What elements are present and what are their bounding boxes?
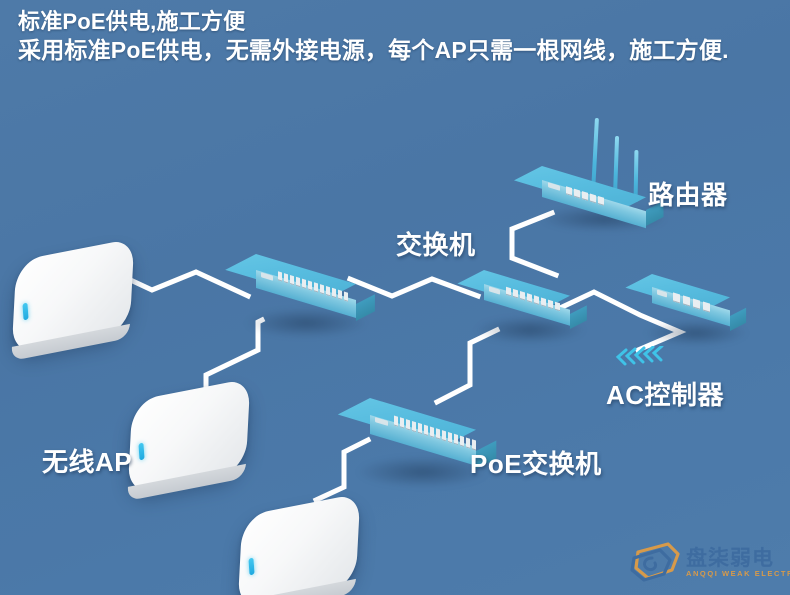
watermark-english: ANQQI WEAK ELECTRICITY	[686, 569, 790, 578]
switch-port	[344, 291, 348, 301]
switch-port	[326, 286, 330, 296]
label-ac-controller: AC控制器	[606, 375, 724, 412]
switch-port	[527, 293, 532, 303]
poe-port	[394, 415, 398, 426]
router-port	[590, 194, 596, 204]
switch-port	[513, 289, 518, 299]
device-ac-controller[interactable]	[640, 272, 750, 348]
device-ap-top[interactable]	[14, 250, 132, 342]
label-router: 路由器	[648, 175, 728, 212]
watermark-chinese: 盘柒弱电	[686, 542, 774, 572]
switch-port	[332, 288, 336, 298]
ap-middle-led-icon	[138, 442, 144, 460]
ap-middle-body	[128, 378, 251, 494]
switch-port	[296, 277, 300, 287]
label-switch: 交换机	[396, 225, 476, 262]
ac-port	[693, 298, 700, 309]
poe-port	[424, 425, 428, 436]
watermark-mark-icon	[628, 540, 684, 584]
device-switch-core[interactable]	[470, 268, 590, 344]
ap-bottom-led-icon	[248, 557, 254, 575]
switch-port	[506, 287, 511, 297]
ac-wireless-signal-icon	[612, 346, 670, 372]
switch-port	[284, 273, 288, 283]
cable-switchleft-to-ap-top	[122, 272, 248, 296]
switch-port	[290, 275, 294, 285]
ap-top-body	[12, 238, 135, 354]
poe-port	[412, 421, 416, 432]
router-port	[582, 191, 588, 201]
router-port	[574, 189, 580, 199]
switch-port	[548, 300, 553, 310]
switch-port	[555, 302, 560, 312]
switch-port	[338, 290, 342, 300]
router-port	[598, 196, 604, 206]
ap-top-led-icon	[22, 302, 28, 320]
switch-port	[534, 295, 539, 305]
poe-port	[418, 423, 422, 434]
poe-port	[400, 417, 404, 428]
router-port	[566, 186, 572, 196]
ac-port	[703, 302, 710, 313]
poe-port	[442, 430, 446, 441]
switch-port	[302, 279, 306, 289]
watermark-logo: 盘柒弱电 ANQQI WEAK ELECTRICITY	[628, 540, 778, 588]
device-ap-bottom[interactable]	[240, 505, 358, 595]
label-poe-switch: PoE交换机	[470, 444, 602, 481]
switch-port	[520, 291, 525, 301]
switch-port	[541, 297, 546, 307]
ac-port	[683, 295, 690, 306]
switch-port	[308, 280, 312, 290]
switch-port	[278, 271, 282, 281]
poe-port	[406, 419, 410, 430]
poe-port	[436, 428, 440, 439]
ac-port	[673, 292, 680, 303]
poe-port	[448, 432, 452, 443]
switch-port	[320, 284, 324, 294]
label-wireless-ap: 无线AP	[42, 442, 132, 479]
device-ap-middle[interactable]	[130, 390, 248, 482]
switch-port	[314, 282, 318, 292]
poe-port	[454, 434, 458, 445]
poe-port	[430, 426, 434, 437]
device-switch-left[interactable]	[240, 252, 370, 338]
network-topology-diagram: 标准PoE供电,施工方便 采用标准PoE供电，无需外接电源，每个AP只需一根网线…	[0, 0, 790, 595]
ap-bottom-body	[238, 493, 361, 595]
poe-port	[460, 436, 464, 447]
